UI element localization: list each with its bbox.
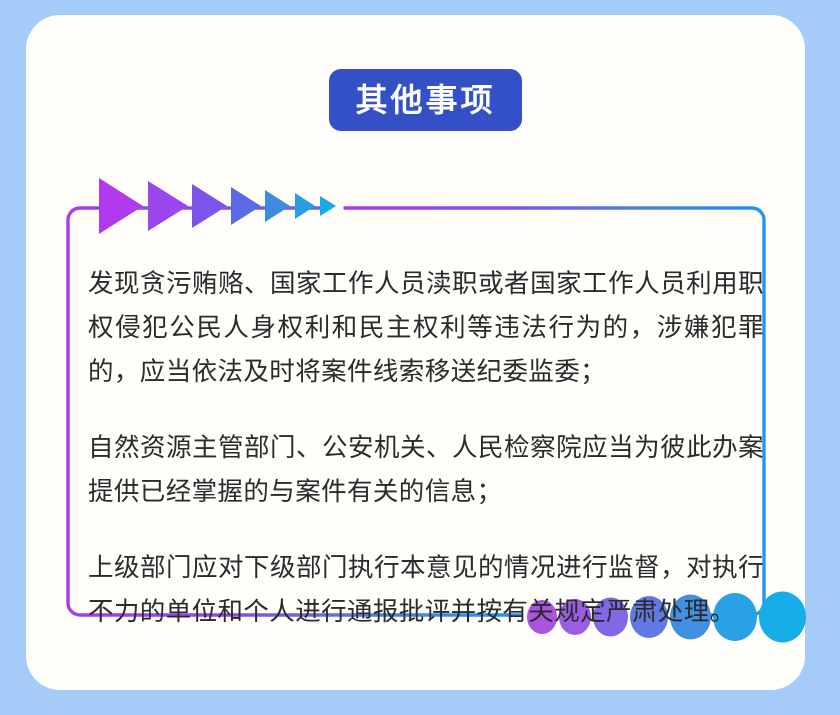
arrow-decoration — [99, 178, 341, 234]
dot-circle-icon — [759, 592, 806, 643]
arrow-triangle-icon — [99, 178, 143, 234]
arrow-triangle-icon — [231, 187, 261, 225]
poster-canvas: 其他事项 发现贪污贿赂、国家工作人员渎职或者国家工作人员利用职权侵犯公民人身权利… — [0, 0, 840, 715]
arrow-triangle-icon — [192, 184, 227, 228]
arrow-triangle-icon — [295, 193, 315, 219]
paragraph: 发现贪污贿赂、国家工作人员渎职或者国家工作人员利用职权侵犯公民人身权利和民主权利… — [88, 262, 764, 394]
arrow-triangle-icon — [320, 196, 336, 216]
page-title: 其他事项 — [355, 84, 495, 116]
paragraph: 自然资源主管部门、公安机关、人民检察院应当为彼此办案提供已经掌握的与案件有关的信… — [88, 426, 764, 514]
paragraph: 上级部门应对下级部门执行本意见的情况进行监督，对执行不力的单位和个人进行通报批评… — [88, 546, 764, 634]
arrow-triangle-icon — [148, 181, 188, 231]
body-text-block: 发现贪污贿赂、国家工作人员渎职或者国家工作人员利用职权侵犯公民人身权利和民主权利… — [88, 262, 764, 634]
arrow-triangle-icon — [265, 190, 290, 222]
section-title-badge: 其他事项 — [329, 69, 522, 131]
